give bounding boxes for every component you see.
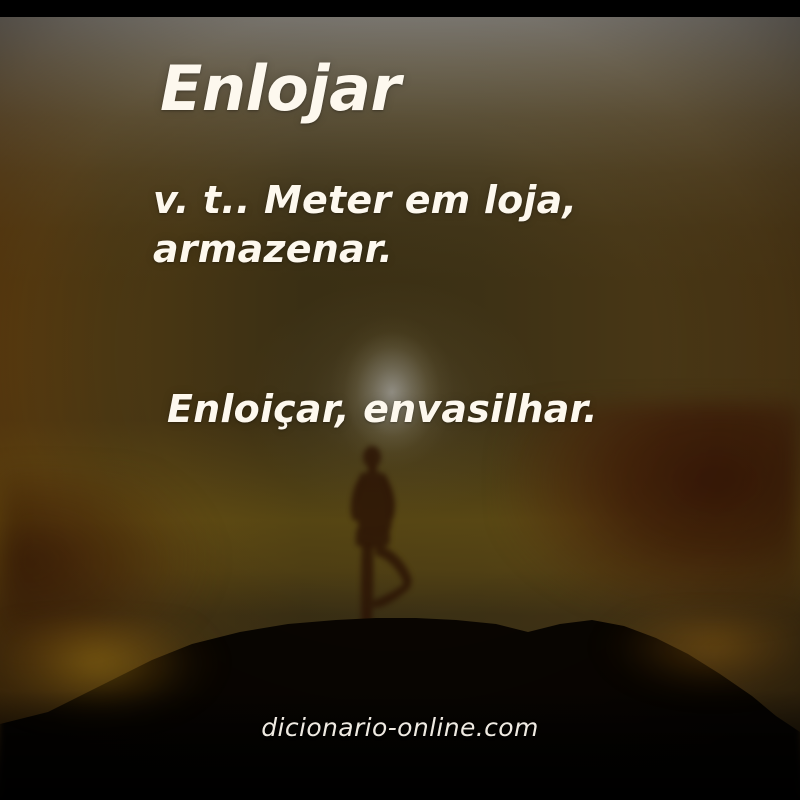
definition-card: Enlojar v. t.. Meter em loja, armazenar.… xyxy=(0,0,800,800)
yoga-tree-pose-silhouette-icon xyxy=(336,446,446,658)
definition-line-2: Enloiçar, envasilhar. xyxy=(167,385,687,434)
ridge-glow-left xyxy=(0,618,320,768)
top-letterbox-bar xyxy=(0,0,800,17)
background-landmass-left xyxy=(0,470,240,670)
background-landmass-right xyxy=(500,402,800,632)
bottom-fade xyxy=(0,690,800,800)
definition-line-1: v. t.. Meter em loja, armazenar. xyxy=(153,176,653,275)
foreground-ridge xyxy=(0,600,800,800)
site-watermark: dicionario-online.com xyxy=(0,713,800,742)
word-title: Enlojar xyxy=(160,56,401,121)
